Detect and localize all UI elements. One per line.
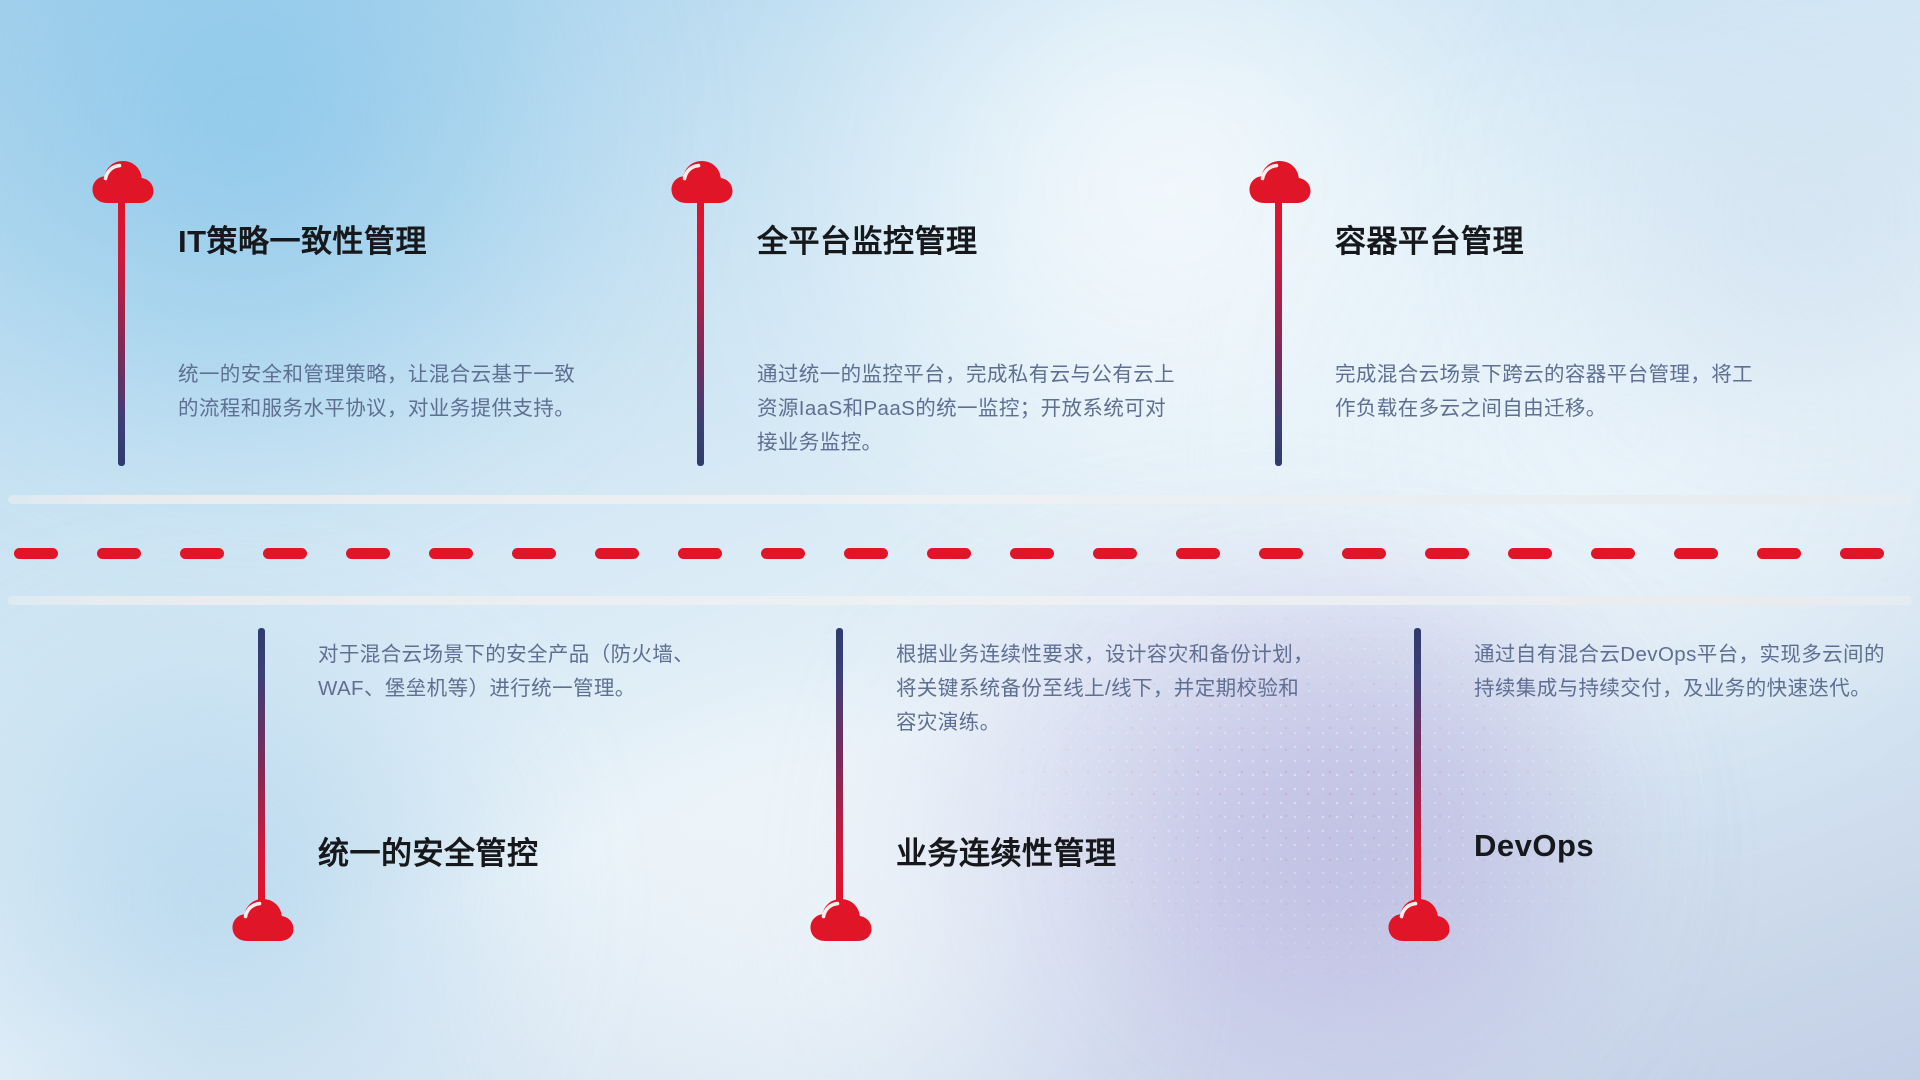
divider-dash bbox=[14, 548, 58, 559]
divider-dash bbox=[761, 548, 805, 559]
divider-dash bbox=[1591, 548, 1635, 559]
top-heading-1: IT策略一致性管理 bbox=[178, 216, 427, 261]
top-body-1: 统一的安全和管理策略，让混合云基于一致的流程和服务水平协议，对业务提供支持。 bbox=[178, 358, 588, 426]
divider-dash bbox=[263, 548, 307, 559]
timeline-stem bbox=[258, 628, 265, 908]
divider-bar-top bbox=[8, 495, 1912, 504]
bottom-body-1: 对于混合云场景下的安全产品（防火墙、WAF、堡垒机等）进行统一管理。 bbox=[318, 638, 738, 706]
divider-dash bbox=[1840, 548, 1884, 559]
timeline-stem bbox=[118, 196, 125, 466]
divider-dash bbox=[1508, 548, 1552, 559]
divider-dash bbox=[1176, 548, 1220, 559]
timeline-stem bbox=[1275, 196, 1282, 466]
bottom-heading-2: 业务连续性管理 bbox=[896, 828, 1117, 873]
divider-dash bbox=[429, 548, 473, 559]
dashed-road-divider bbox=[14, 548, 1914, 559]
timeline-stem bbox=[836, 628, 843, 908]
divider-dash bbox=[595, 548, 639, 559]
cloud-icon bbox=[1388, 898, 1450, 942]
divider-dash bbox=[512, 548, 556, 559]
top-body-2: 通过统一的监控平台，完成私有云与公有云上资源IaaS和PaaS的统一监控；开放系… bbox=[757, 358, 1177, 460]
divider-dash bbox=[180, 548, 224, 559]
divider-dash bbox=[1342, 548, 1386, 559]
bottom-body-2: 根据业务连续性要求，设计容灾和备份计划，将关键系统备份至线上/线下，并定期校验和… bbox=[896, 638, 1316, 740]
divider-dash bbox=[1093, 548, 1137, 559]
timeline-stem bbox=[697, 196, 704, 466]
divider-dash bbox=[346, 548, 390, 559]
top-heading-2: 全平台监控管理 bbox=[757, 216, 978, 261]
bottom-body-3: 通过自有混合云DevOps平台，实现多云间的持续集成与持续交付，及业务的快速迭代… bbox=[1474, 638, 1894, 706]
divider-dash bbox=[1674, 548, 1718, 559]
top-heading-3: 容器平台管理 bbox=[1335, 216, 1524, 261]
divider-dash bbox=[1757, 548, 1801, 559]
top-body-3: 完成混合云场景下跨云的容器平台管理，将工作负载在多云之间自由迁移。 bbox=[1335, 358, 1755, 426]
divider-dash bbox=[844, 548, 888, 559]
cloud-icon bbox=[810, 898, 872, 942]
bottom-heading-1: 统一的安全管控 bbox=[318, 828, 539, 873]
divider-bar-bottom bbox=[8, 596, 1912, 605]
divider-dash bbox=[97, 548, 141, 559]
divider-dash bbox=[1010, 548, 1054, 559]
divider-dash bbox=[678, 548, 722, 559]
divider-dash bbox=[1425, 548, 1469, 559]
bottom-heading-3: DevOps bbox=[1474, 828, 1594, 864]
timeline-stem bbox=[1414, 628, 1421, 908]
divider-dash bbox=[1259, 548, 1303, 559]
infographic-canvas: IT策略一致性管理 统一的安全和管理策略，让混合云基于一致的流程和服务水平协议，… bbox=[0, 0, 1920, 1080]
cloud-icon bbox=[232, 898, 294, 942]
divider-dash bbox=[927, 548, 971, 559]
